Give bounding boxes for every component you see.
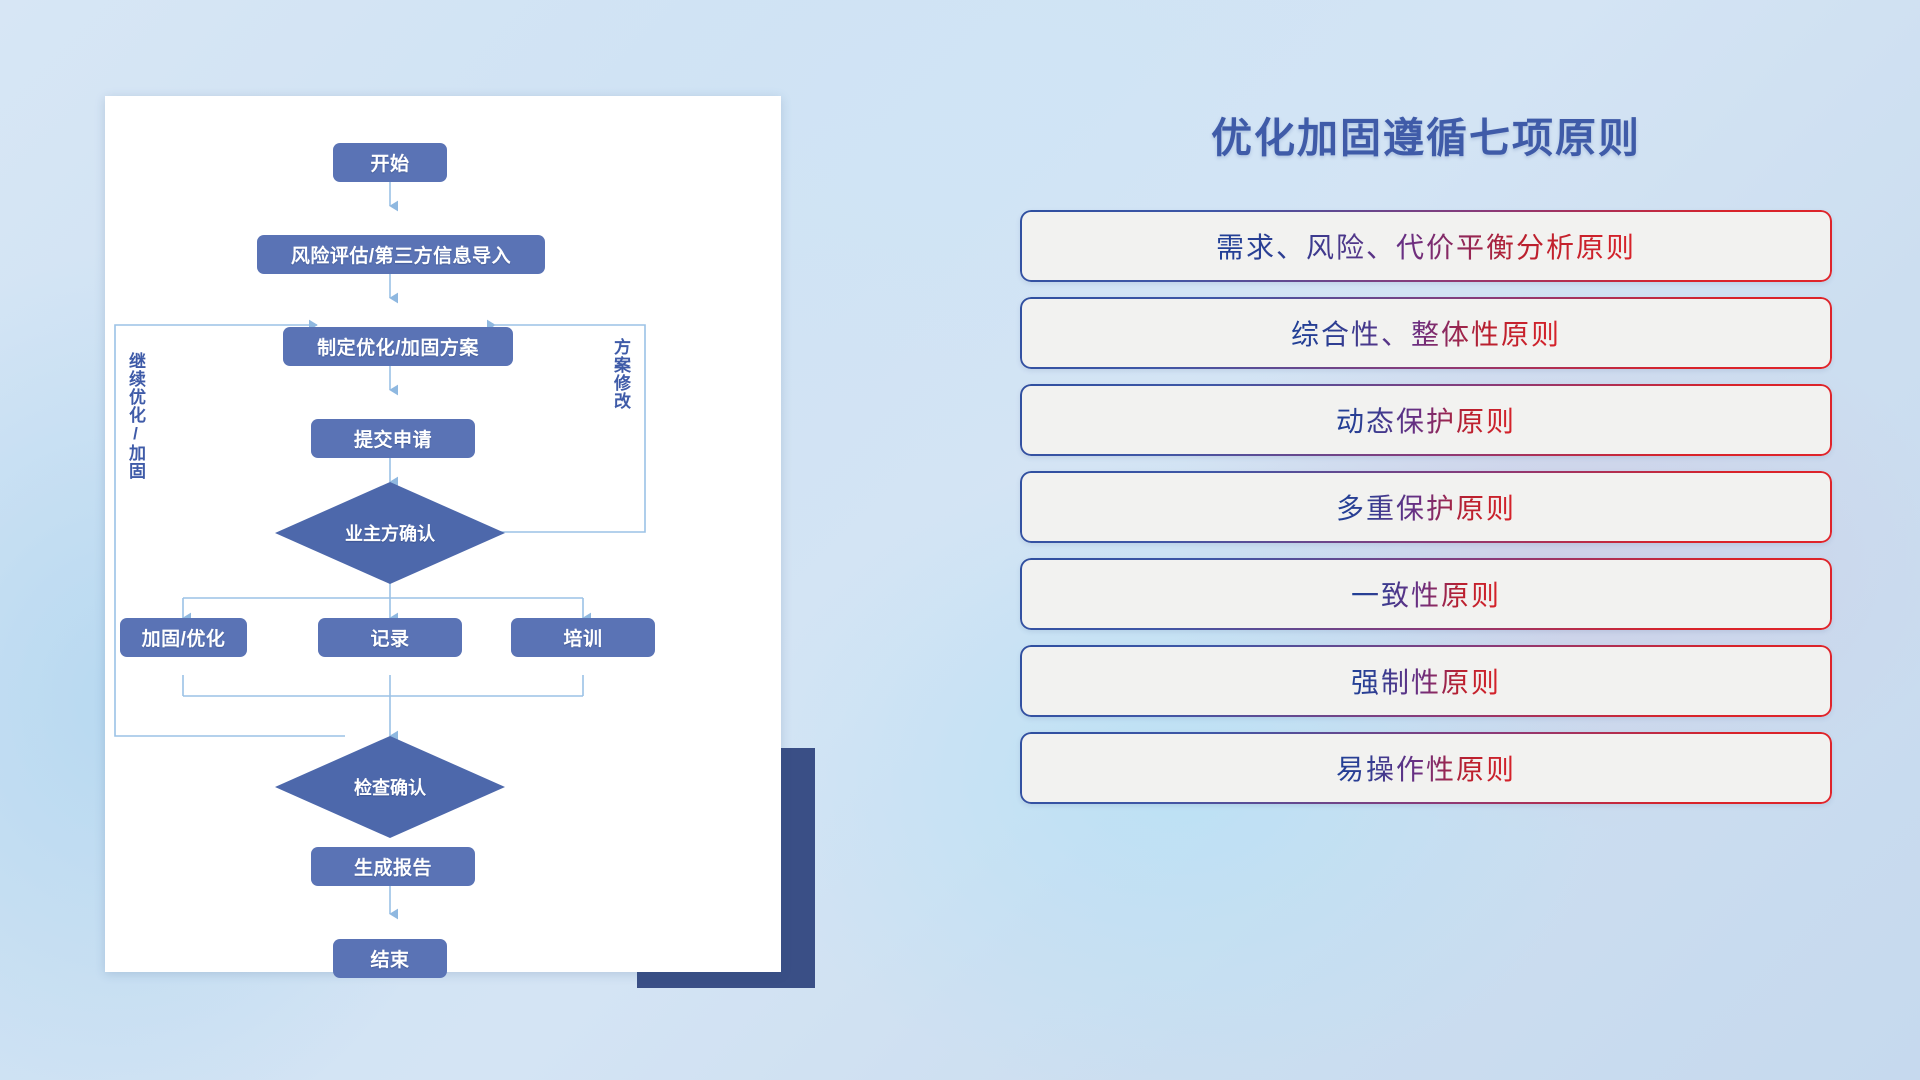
flow-node-label: 开始 <box>370 149 409 176</box>
flow-node-label: 加固/优化 <box>142 624 226 651</box>
principle-card[interactable]: 多重保护原则 <box>1020 471 1832 543</box>
flow-edge-label-left: 继续优化/加固 <box>127 352 144 480</box>
flow-node-label: 提交申请 <box>354 425 432 452</box>
principle-card[interactable]: 需求、风险、代价平衡分析原则 <box>1020 210 1832 282</box>
flow-node-label: 风险评估/第三方信息导入 <box>291 241 511 268</box>
flow-node-submit[interactable]: 提交申请 <box>311 419 475 458</box>
flow-node-label: 结束 <box>370 945 409 972</box>
page-title: 优化加固遵循七项原则 <box>1020 104 1832 164</box>
flow-node-risk-assessment[interactable]: 风险评估/第三方信息导入 <box>257 235 545 274</box>
principle-label: 多重保护原则 <box>1336 487 1516 527</box>
flow-node-label: 检查确认 <box>354 774 426 800</box>
principle-label: 易操作性原则 <box>1336 748 1516 788</box>
principle-card[interactable]: 易操作性原则 <box>1020 732 1832 804</box>
flow-node-owner-confirm[interactable]: 业主方确认 <box>275 482 505 584</box>
principle-card[interactable]: 一致性原则 <box>1020 558 1832 630</box>
principle-card[interactable]: 动态保护原则 <box>1020 384 1832 456</box>
flow-node-training[interactable]: 培训 <box>511 618 655 657</box>
flow-node-reinforce[interactable]: 加固/优化 <box>120 618 247 657</box>
principle-label: 需求、风险、代价平衡分析原则 <box>1216 226 1636 266</box>
slide-canvas: 开始 风险评估/第三方信息导入 制定优化/加固方案 提交申请 业主方确认 加固/… <box>0 0 1920 1080</box>
flow-node-check-confirm[interactable]: 检查确认 <box>275 736 505 838</box>
flow-node-record[interactable]: 记录 <box>318 618 462 657</box>
flow-node-label: 记录 <box>370 624 409 651</box>
principle-label: 综合性、整体性原则 <box>1291 313 1561 353</box>
flowchart-card: 开始 风险评估/第三方信息导入 制定优化/加固方案 提交申请 业主方确认 加固/… <box>105 96 781 972</box>
principles-panel: 优化加固遵循七项原则 需求、风险、代价平衡分析原则 综合性、整体性原则 动态保护… <box>1020 104 1832 819</box>
flow-node-start[interactable]: 开始 <box>333 143 447 182</box>
principle-card[interactable]: 综合性、整体性原则 <box>1020 297 1832 369</box>
flow-node-label: 业主方确认 <box>345 520 435 546</box>
principle-label: 动态保护原则 <box>1336 400 1516 440</box>
flow-edge-label-right: 方案修改 <box>612 338 629 410</box>
flow-node-plan[interactable]: 制定优化/加固方案 <box>283 327 513 366</box>
principle-label: 一致性原则 <box>1351 574 1501 614</box>
flow-node-label: 培训 <box>563 624 602 651</box>
flow-node-label: 生成报告 <box>354 853 432 880</box>
flow-node-generate-report[interactable]: 生成报告 <box>311 847 475 886</box>
flow-node-label: 制定优化/加固方案 <box>317 333 479 360</box>
principle-card[interactable]: 强制性原则 <box>1020 645 1832 717</box>
flow-node-end[interactable]: 结束 <box>333 939 447 978</box>
principle-label: 强制性原则 <box>1351 661 1501 701</box>
